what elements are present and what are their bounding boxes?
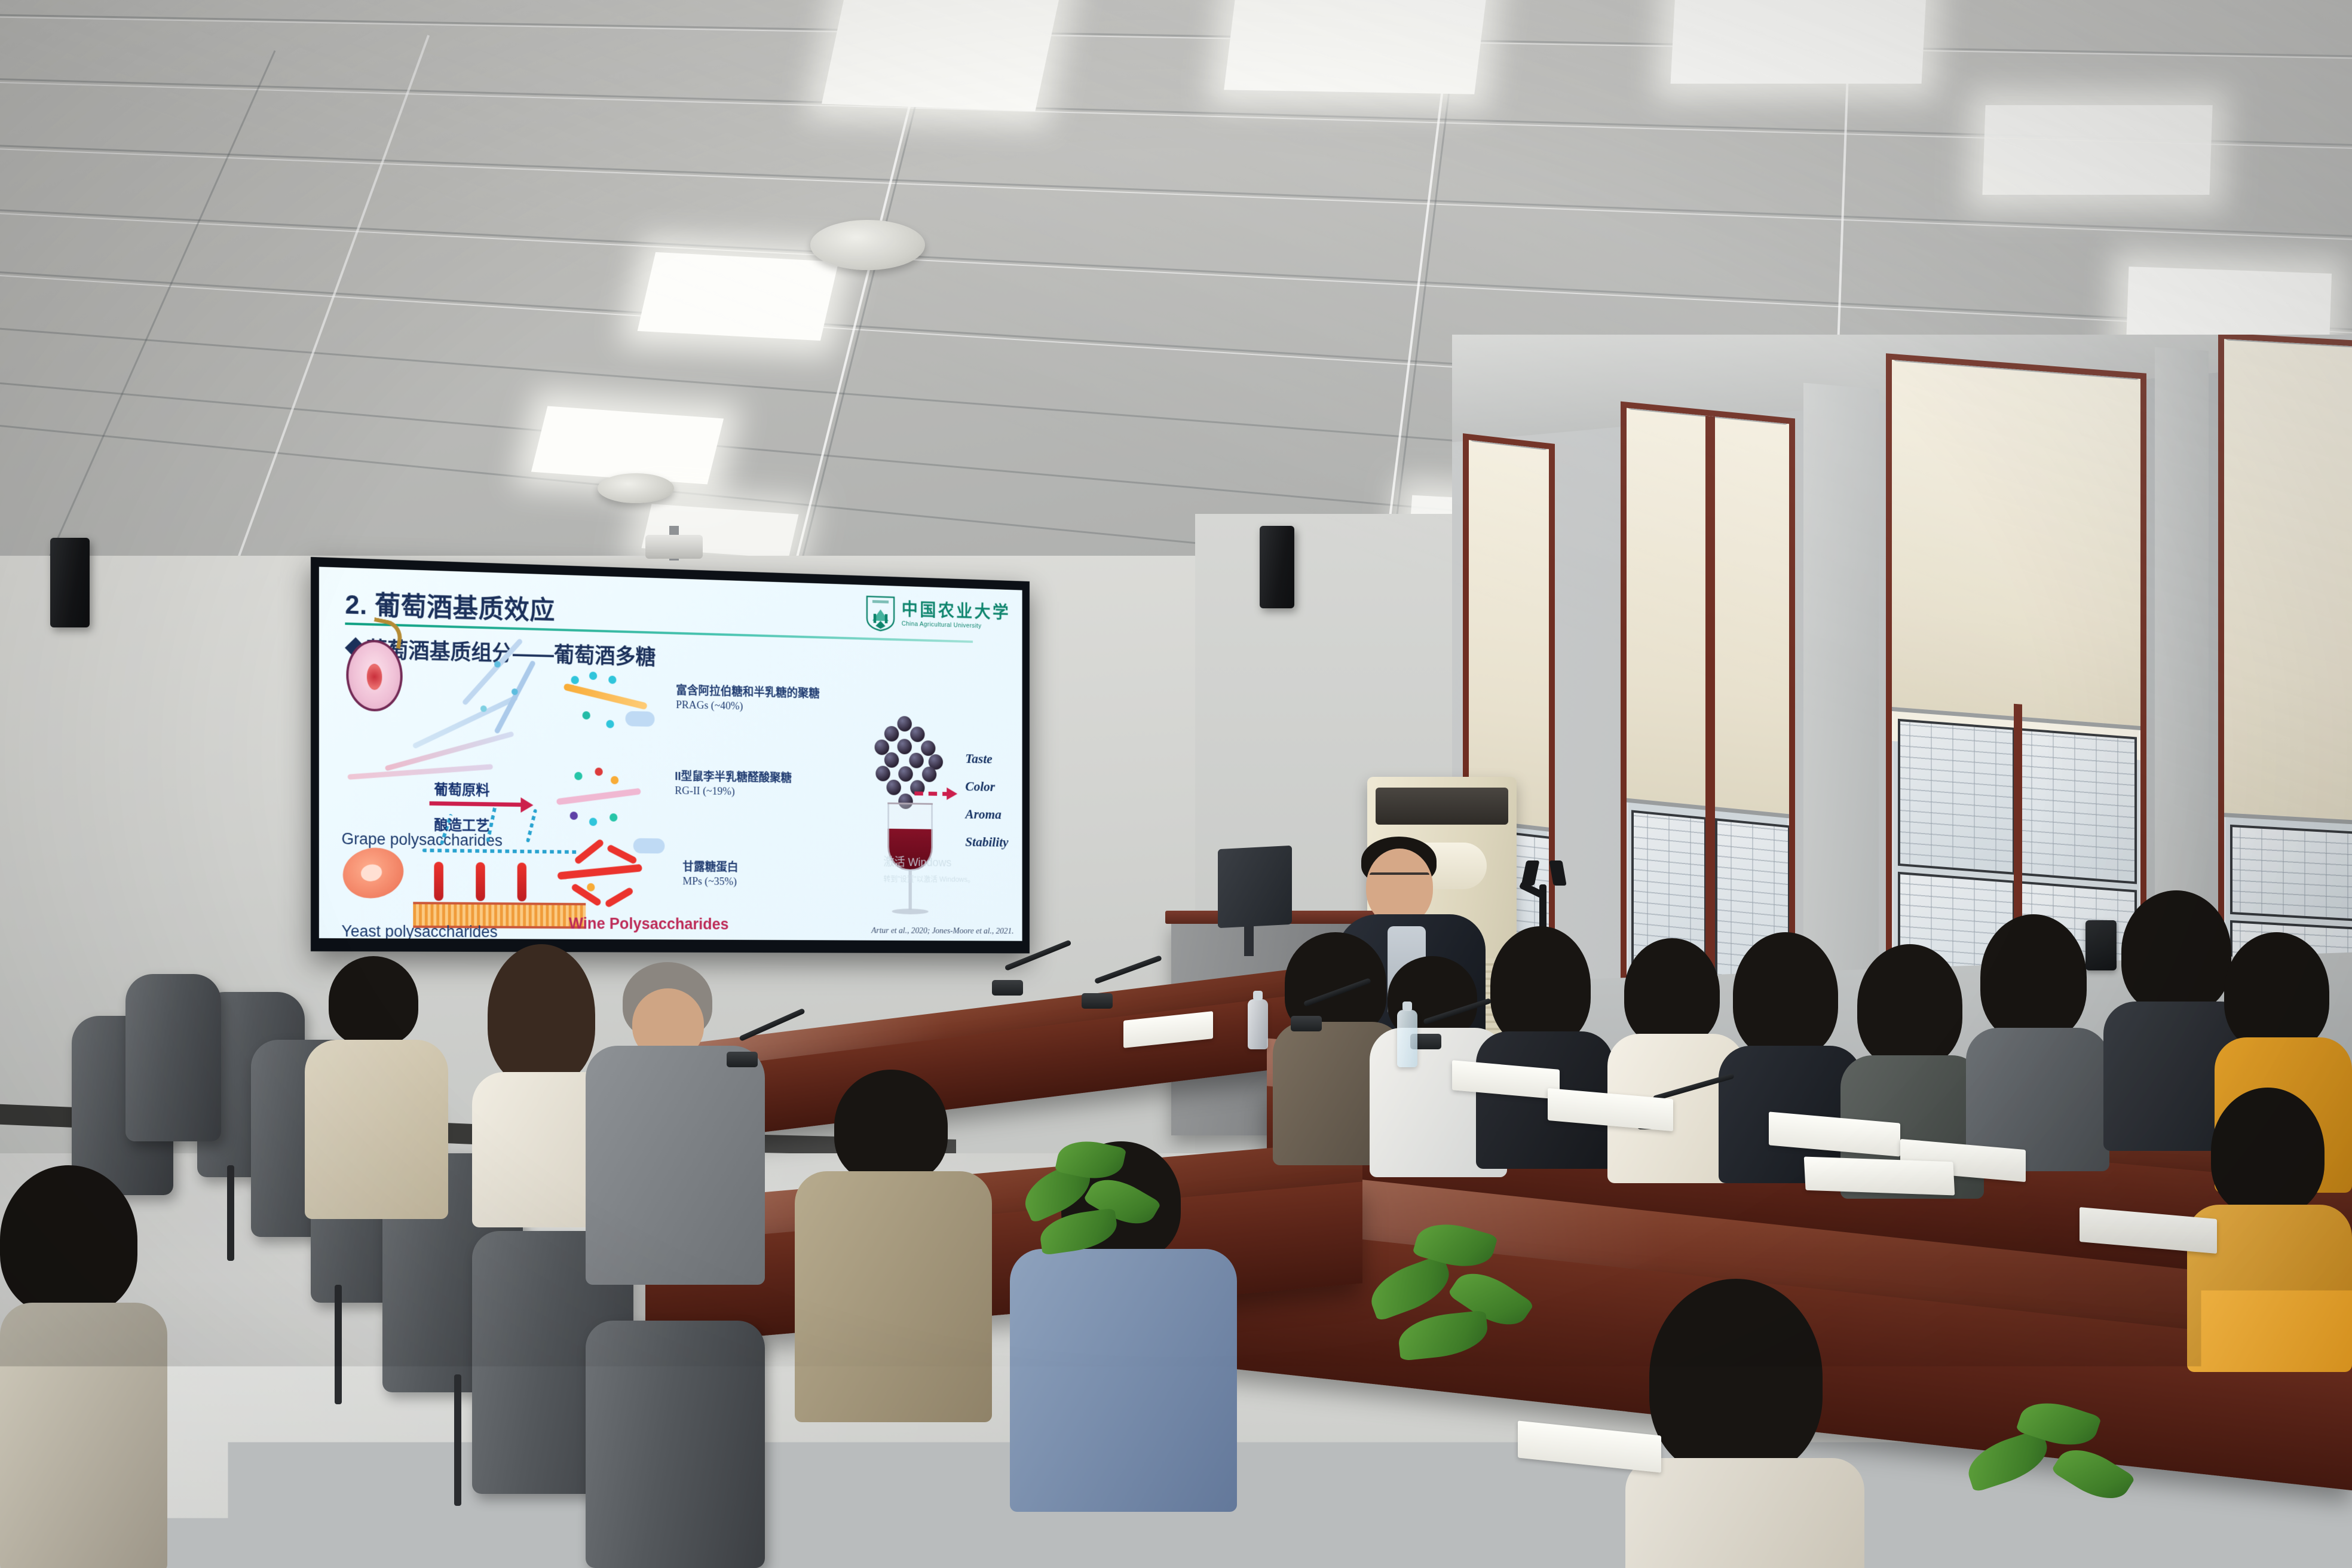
mp-molecule-graphic bbox=[547, 840, 660, 922]
presenter-head bbox=[1366, 849, 1433, 925]
roller-blind[interactable] bbox=[1469, 440, 1549, 832]
ceiling-light-panel bbox=[1671, 0, 1927, 84]
logo-cn-name: 中国农业大学 bbox=[902, 601, 1010, 621]
ceiling-light-panel bbox=[638, 252, 839, 341]
ceiling-light-panel bbox=[531, 406, 724, 485]
effect-aroma: Aroma bbox=[965, 807, 1008, 823]
chair-leg bbox=[227, 1165, 234, 1261]
notebook bbox=[1804, 1157, 1955, 1196]
audience-hair bbox=[1649, 1279, 1823, 1476]
audience-member bbox=[0, 1165, 167, 1568]
presenter-glasses-icon bbox=[1370, 872, 1429, 884]
polysaccharide-chain-graphic bbox=[385, 731, 514, 771]
sugar-unit-icon bbox=[512, 688, 518, 695]
audience-hair bbox=[2224, 932, 2329, 1052]
label-yeast-polysaccharides: Yeast polysaccharides bbox=[341, 922, 497, 941]
audience-member bbox=[586, 962, 765, 1273]
audience-hair bbox=[834, 1070, 948, 1183]
chair-leg bbox=[454, 1374, 461, 1506]
logo-en-name: China Agricultural University bbox=[902, 621, 1010, 630]
sugar-unit-icon bbox=[494, 661, 501, 667]
windows-activation-watermark: 激活 Windows 转到"设置"以激活 Windows。 bbox=[883, 855, 974, 887]
process-arrow-icon bbox=[430, 801, 522, 807]
ac-vent-icon bbox=[1376, 788, 1508, 825]
shield-icon bbox=[865, 594, 896, 633]
podium-monitor[interactable] bbox=[1218, 846, 1292, 928]
potted-plant bbox=[1966, 1404, 2133, 1554]
audience-torso bbox=[1625, 1458, 1864, 1568]
audience-hair bbox=[329, 956, 418, 1046]
component-mps-cn: 甘露糖蛋白 bbox=[682, 860, 738, 874]
rgii-molecule-graphic bbox=[547, 761, 654, 838]
projection-screen: 中国农业大学 China Agricultural University 2. … bbox=[311, 557, 1030, 953]
arrow-label-vinification: 酿造工艺 bbox=[434, 813, 489, 835]
component-prags: 富含阿拉伯糖和半乳糖的聚糖 PRAGs (~40%) bbox=[676, 684, 820, 715]
polysaccharide-chain-graphic bbox=[494, 660, 536, 734]
label-wine-polysaccharides: Wine Polysaccharides bbox=[569, 915, 729, 934]
wall-speaker-icon bbox=[1260, 526, 1294, 608]
watermark-line2: 转到"设置"以激活 Windows。 bbox=[883, 874, 974, 884]
effect-color: Color bbox=[965, 779, 1008, 795]
audience-torso bbox=[795, 1171, 992, 1422]
arrow-label-raw-material: 葡萄原料 bbox=[434, 777, 489, 799]
audience-hair bbox=[1624, 938, 1720, 1046]
audience-torso bbox=[0, 1303, 167, 1568]
component-rgii-cn: II型鼠李半乳糖醛酸聚糖 bbox=[675, 770, 792, 786]
effects-list: Taste Color Aroma Stability bbox=[965, 752, 1008, 851]
presentation-slide: 中国农业大学 China Agricultural University 2. … bbox=[319, 566, 1022, 941]
beta-glucan-chain-graphic bbox=[526, 809, 537, 843]
component-rgii: II型鼠李半乳糖醛酸聚糖 RG-II (~19%) bbox=[675, 770, 792, 800]
conference-chair[interactable] bbox=[125, 974, 221, 1141]
effect-taste: Taste bbox=[965, 752, 1008, 768]
ceiling-light-panel bbox=[822, 0, 1062, 111]
audience-hair bbox=[1733, 932, 1838, 1058]
roller-blind[interactable] bbox=[2224, 339, 2352, 825]
window-pane bbox=[1898, 719, 2015, 875]
slide-citation: Artur et al., 2020; Jones-Moore et al., … bbox=[871, 926, 1013, 936]
component-mps: 甘露糖蛋白 MPs (~35%) bbox=[682, 860, 738, 888]
window bbox=[1621, 402, 1795, 1016]
audience-torso bbox=[305, 1040, 448, 1219]
smartphone-icon[interactable] bbox=[2085, 920, 2117, 970]
ceiling-speaker-icon bbox=[598, 473, 674, 503]
window-pane bbox=[2020, 728, 2137, 884]
audience-hair bbox=[1857, 944, 1962, 1067]
chair-leg bbox=[335, 1285, 342, 1404]
seminar-room-photo: 中国农业大学 China Agricultural University 2. … bbox=[0, 0, 2352, 1568]
projector bbox=[645, 535, 703, 559]
conference-chair[interactable] bbox=[586, 1321, 765, 1568]
university-logo: 中国农业大学 China Agricultural University bbox=[865, 594, 1010, 636]
polysaccharide-chain-graphic bbox=[347, 764, 493, 780]
window-mullion bbox=[1705, 416, 1715, 1003]
water-bottle bbox=[1248, 999, 1268, 1049]
mannoprotein-icon bbox=[517, 862, 526, 901]
ceiling-light-panel bbox=[1224, 0, 1489, 94]
potted-plant bbox=[1016, 1135, 1171, 1285]
component-prags-cn: 富含阿拉伯糖和半乳糖的聚糖 bbox=[676, 684, 820, 701]
roller-blind[interactable] bbox=[1892, 360, 2140, 730]
yeast-cell-graphic bbox=[338, 843, 408, 904]
potted-plant bbox=[1368, 1225, 1536, 1392]
component-mps-en: MPs (~35%) bbox=[682, 875, 738, 889]
wall-speaker-icon bbox=[50, 538, 90, 627]
grape-berry-graphic bbox=[346, 639, 402, 712]
sugar-unit-icon bbox=[480, 705, 487, 712]
audience-hair bbox=[0, 1165, 137, 1315]
audience-member bbox=[305, 956, 448, 1207]
component-rgii-en: RG-II (~19%) bbox=[675, 785, 792, 799]
effect-stability: Stability bbox=[965, 835, 1008, 850]
audience-torso bbox=[586, 1046, 765, 1285]
mannoprotein-icon bbox=[434, 862, 443, 901]
prag-molecule-graphic bbox=[552, 668, 659, 746]
audience-member bbox=[795, 1070, 992, 1404]
watermark-line1: 激活 Windows bbox=[883, 855, 974, 871]
audience-member bbox=[2187, 1088, 2352, 1339]
effect-arrow-icon bbox=[914, 791, 948, 796]
audience-member bbox=[1601, 1279, 1864, 1568]
mannoprotein-icon bbox=[476, 862, 485, 901]
audience-torso bbox=[1010, 1249, 1237, 1512]
audience-member-photographer bbox=[2068, 908, 2187, 1040]
audience-hair bbox=[488, 944, 595, 1085]
component-prags-en: PRAGs (~40%) bbox=[676, 699, 820, 715]
water-bottle bbox=[1397, 1010, 1417, 1067]
ceiling-light-panel bbox=[1982, 105, 2212, 195]
audience-hair bbox=[2211, 1088, 2325, 1215]
ceiling-speaker-icon bbox=[810, 220, 925, 270]
audience-hair bbox=[1490, 926, 1591, 1046]
